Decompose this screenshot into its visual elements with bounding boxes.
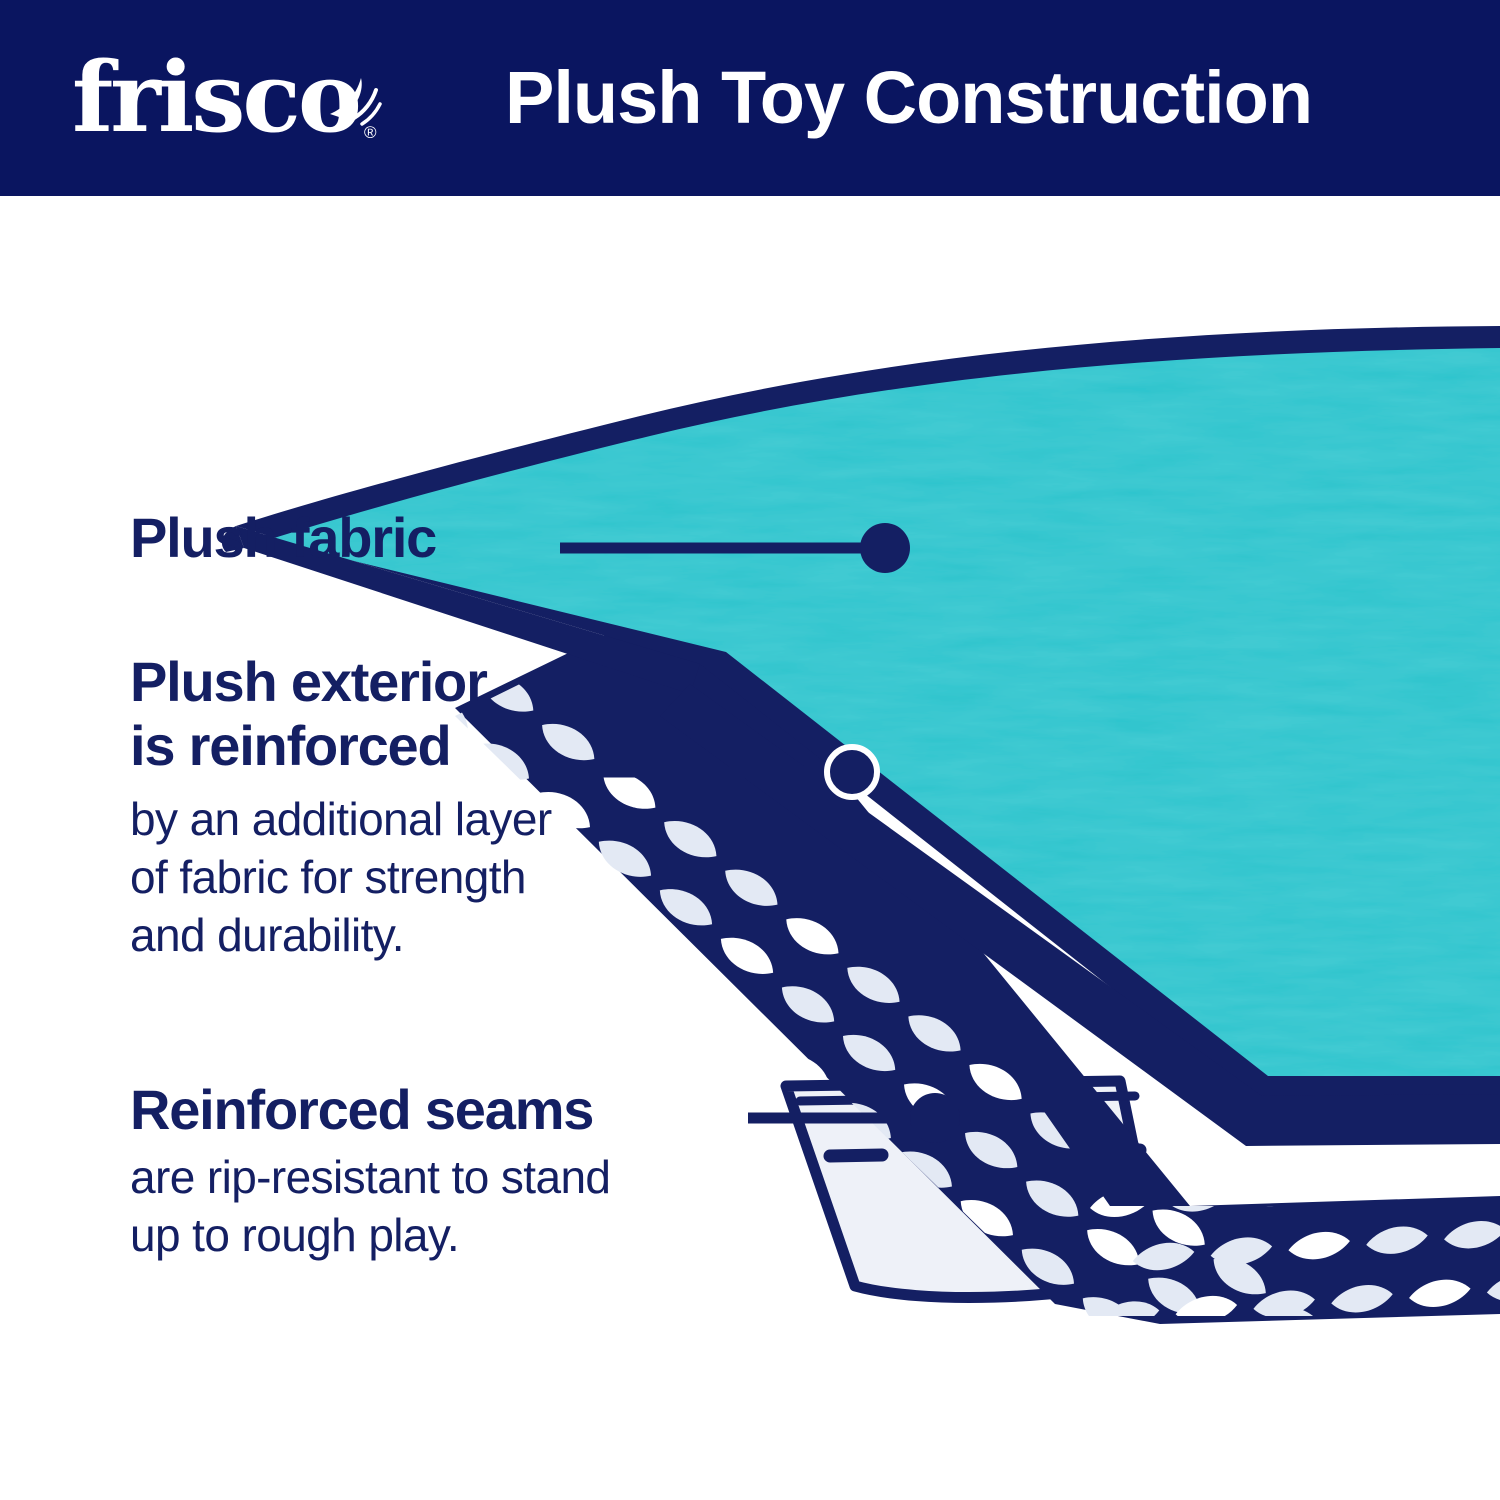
infographic-page: frisco ® Plush Toy Construction: [0, 0, 1500, 1500]
marker-dot-plush-fabric: [860, 523, 910, 573]
header-bar: frisco ® Plush Toy Construction: [0, 0, 1500, 196]
frisco-logo: frisco ®: [72, 46, 382, 150]
callout-plush-fabric: Plush fabric: [130, 506, 560, 570]
callout-plush-fabric-title: Plush fabric: [130, 506, 560, 570]
marker-dot-reinforced-seams: [910, 1093, 960, 1143]
registered-trademark-icon: ®: [364, 124, 377, 141]
callout-reinforced-seams: Reinforced seams are rip-resistant to st…: [130, 1078, 790, 1264]
frisco-logo-wordmark: frisco: [72, 46, 359, 150]
callout-reinforced-seams-body: are rip-resistant to stand up to rough p…: [130, 1148, 790, 1264]
frisco-logo-swoosh-icon: [324, 74, 384, 126]
callout-plush-exterior-body: by an additional layer of fabric for str…: [130, 790, 730, 964]
callout-plush-exterior-title: Plush exterior is reinforced: [130, 650, 730, 778]
callout-plush-exterior: Plush exterior is reinforced by an addit…: [130, 650, 730, 964]
callout-reinforced-seams-title: Reinforced seams: [130, 1078, 790, 1142]
page-title: Plush Toy Construction: [505, 46, 1385, 150]
